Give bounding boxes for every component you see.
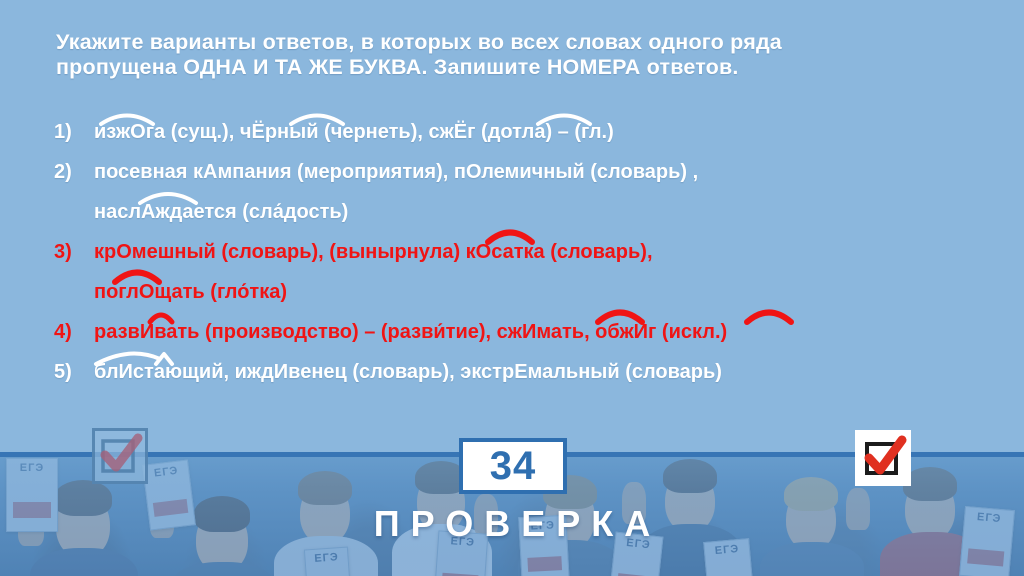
answer-number-5: 5) [54,352,94,392]
answer-text-5: блИстающий, иждИвенец (словарь), экстрЕм… [94,352,722,392]
footer-title: ПРОВЕРКА [0,503,1024,545]
answer-number-1: 1) [54,112,94,152]
answer-line: блИстающий, иждИвенец (словарь), экстрЕм… [94,361,722,383]
slide-number-badge: 34 [459,438,567,494]
answer-number-4: 4) [54,312,94,352]
answer-number-2: 2) [54,152,94,192]
answer-text-2: посевная кАмпания (мероприятия), пОлемич… [94,152,698,232]
answer-option-1[interactable]: 1) изжОга (сущ.), чЁрный (чернеть), сжЁг… [54,112,1004,152]
checkbox-checked-icon[interactable] [855,430,911,486]
answer-line-wrap: наслАждается (сла́дость) [54,192,698,232]
answer-option-2[interactable]: 2) посевная кАмпания (мероприятия), пОле… [54,152,1004,232]
answer-line: посевная кАмпания (мероприятия), пОлемич… [94,161,698,183]
heading-line-2: пропущена ОДНА И ТА ЖЕ БУКВА. Запишите Н… [56,55,986,80]
answer-text-3: крОмешный (словарь), (вынырнула) кОсатка… [94,232,653,312]
answer-line: изжОга (сущ.), чЁрный (чернеть), сжЁг (д… [94,121,614,143]
slide-number: 34 [490,446,537,486]
heading-line-1: Укажите варианты ответов, в которых во в… [56,30,986,55]
answer-line: развИвать (производство) – (разви́тие), … [94,321,727,343]
answer-option-5[interactable]: 5) блИстающий, иждИвенец (словарь), экст… [54,352,1004,392]
answer-line: поглОщать (гло́тка) [94,281,287,303]
checkbox-left[interactable] [92,428,148,484]
answer-number-3: 3) [54,232,94,272]
answer-options-list: 1) изжОга (сущ.), чЁрный (чернеть), сжЁг… [54,112,1004,392]
question-heading: Укажите варианты ответов, в которых во в… [56,30,986,80]
answer-option-3[interactable]: 3) крОмешный (словарь), (вынырнула) кОса… [54,232,1004,312]
answer-line-wrap: поглОщать (гло́тка) [54,272,653,312]
slide-root: ЕГЭ ЕГЭ ЕГЭ ЕГЭ ЕГЭ ЕГЭ ЕГЭ ЕГЭ Укажите … [0,0,1024,576]
answer-text-4: развИвать (производство) – (разви́тие), … [94,312,727,352]
checkbox-checked-icon[interactable] [92,428,148,484]
answer-option-4[interactable]: 4) развИвать (производство) – (разви́тие… [54,312,1004,352]
answer-line: наслАждается (сла́дость) [94,201,348,223]
answer-text-1: изжОга (сущ.), чЁрный (чернеть), сжЁг (д… [94,112,614,152]
answer-line: крОмешный (словарь), (вынырнула) кОсатка… [94,241,653,263]
checkbox-right[interactable] [855,430,911,486]
